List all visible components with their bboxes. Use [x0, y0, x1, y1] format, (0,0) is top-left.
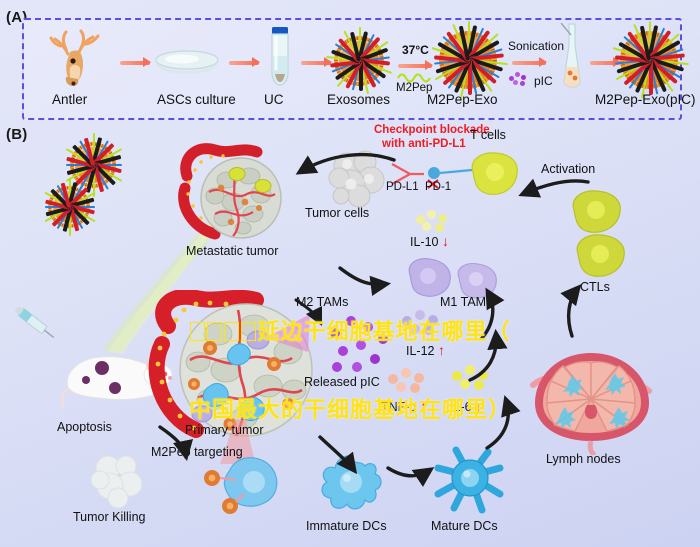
watermark-overlay: 延边干细胞基地在哪里（ 中国最大的干细胞基地在哪里）	[0, 268, 700, 450]
mature-dc-cell	[430, 442, 508, 518]
cytokine-il10-arrow: ↓	[442, 233, 449, 249]
pipette-illustration	[555, 23, 585, 89]
arrow-culture-to-uc	[229, 58, 259, 66]
m2pep-exosome-particle	[439, 31, 497, 89]
panel-a-step-label-final: M2Pep-Exo(pIC)	[595, 92, 696, 107]
watermark-line-2-text: 中国最大的干细胞基地在哪里）	[189, 398, 511, 423]
label-tumor-killing: Tumor Killing	[73, 510, 145, 524]
cytokine-il10-name: IL-10	[410, 235, 439, 249]
pic-molecule-cluster	[509, 72, 531, 86]
annotation-temperature: 37°C	[402, 43, 429, 57]
annotation-pic: pIC	[534, 74, 553, 88]
tumor-cells-illustration	[325, 148, 391, 210]
exosome-particle	[334, 36, 384, 86]
watermark-tofu-glyph	[224, 322, 239, 341]
label-tumor-cells: Tumor cells	[305, 206, 369, 220]
watermark-tofu-glyph	[190, 322, 205, 341]
arrow-exosomes-to-m2pep-exo	[398, 61, 432, 69]
ctl-cell-1	[568, 188, 624, 236]
m2pep-exosome-pic-particle	[620, 31, 678, 89]
panel-a: Antler ASCs culture UC	[22, 18, 682, 120]
immature-dc-cell	[313, 450, 385, 518]
label-t-cells: T cells	[470, 128, 506, 142]
apoptotic-tumor-illustration	[86, 450, 152, 512]
arrow-antler-to-culture	[120, 58, 150, 66]
antler-deer-illustration	[46, 28, 114, 90]
metastatic-tumor-illustration	[175, 140, 295, 248]
cytokine-il10: IL-10 ↓	[410, 233, 449, 249]
panel-a-step-label-antler: Antler	[52, 92, 87, 107]
label-pd1: PD-1	[425, 181, 451, 193]
watermark-tofu-glyph	[241, 322, 256, 341]
injected-exosome-2	[48, 186, 90, 228]
centrifuge-tube-illustration	[267, 26, 293, 88]
watermark-line-1: 延边干细胞基地在哪里（	[0, 294, 700, 346]
label-anti-pdl1: with anti-PD-L1	[382, 138, 466, 150]
label-mature-dcs: Mature DCs	[431, 519, 498, 533]
label-lymph-nodes: Lymph nodes	[546, 452, 621, 466]
figure-canvas: (A) Antler	[0, 0, 700, 547]
m2pep-targeting-illustration	[200, 450, 284, 514]
panel-a-step-label-uc: UC	[264, 92, 284, 107]
watermark-line-2-wrap: 中国最大的干细胞基地在哪里）	[0, 372, 700, 424]
watermark-line-1-text: 延边干细胞基地在哪里（	[257, 320, 510, 345]
il10-cytokine-dots	[416, 210, 452, 232]
panel-a-step-label-ascs: ASCs culture	[157, 92, 236, 107]
arrow-uc-to-exosomes	[301, 58, 331, 66]
panel-a-step-label-exosomes: Exosomes	[327, 92, 390, 107]
label-metastatic-tumor: Metastatic tumor	[186, 244, 278, 258]
label-immature-dcs: Immature DCs	[306, 519, 387, 533]
watermark-tofu-glyph	[207, 322, 222, 341]
panel-a-step-label-m2pep-exo: M2Pep-Exo	[427, 92, 498, 107]
arrow-m2pep-exo-to-pic	[512, 58, 546, 66]
label-pdl1: PD-L1	[386, 181, 419, 193]
petri-dish-illustration	[154, 46, 220, 76]
t-cell-illustration	[467, 150, 521, 198]
label-activation: Activation	[541, 162, 595, 176]
